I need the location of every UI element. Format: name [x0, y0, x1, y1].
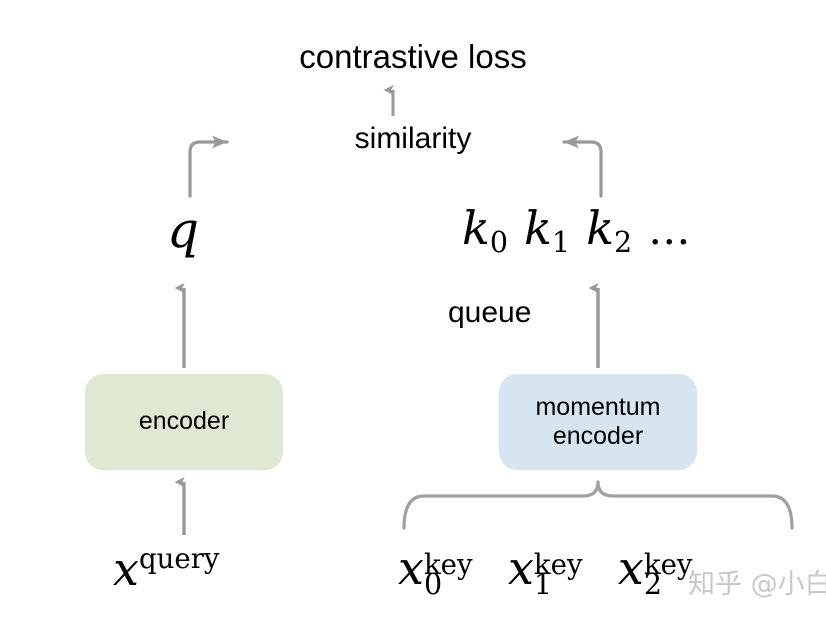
x-query-superscript: query [139, 542, 220, 575]
x-key-symbol-1: x1key [508, 545, 534, 591]
x-key-superscript-0: key [424, 551, 473, 579]
x-query-base: x [113, 542, 139, 596]
key-base-0: k [462, 201, 490, 255]
zhihu-watermark: 知乎 @小白 [688, 562, 826, 601]
x-key-superscript-1: key [534, 551, 583, 579]
moco-diagram: contrastive loss similarity queue q k0 k… [0, 0, 826, 634]
similarity-label: similarity [0, 124, 826, 154]
encoder-box-label: encoder [139, 407, 229, 437]
key-symbol-0: k0 [462, 205, 508, 258]
x-key-base-1: x [508, 541, 534, 595]
x-key-symbol-2: x2key [618, 545, 644, 591]
x-key-base-2: x [618, 541, 644, 595]
key-base-2: k [586, 201, 614, 255]
keys-ellipsis: … [648, 209, 692, 251]
momentum-encoder-box-label: momentum encoder [535, 393, 660, 452]
x-key-superscript-2: key [644, 551, 693, 579]
contrastive-loss-label: contrastive loss [0, 40, 826, 73]
x-key-symbol-0: x0key [398, 545, 424, 591]
momentum-encoder-line2: encoder [553, 422, 643, 450]
diagram-connectors [0, 0, 826, 634]
query-representation-symbol: q [167, 205, 199, 255]
key-base-1: k [524, 201, 552, 255]
encoder-box: encoder [85, 374, 283, 470]
brace-key-inputs [404, 482, 792, 528]
key-symbol-2: k2 [586, 205, 632, 258]
key-subscript-2: 2 [614, 226, 632, 259]
x-key-inputs-group: x0key x1key x2key [398, 545, 644, 591]
key-representations-group: k0 k1 k2 … [462, 205, 692, 258]
key-symbol-1: k1 [524, 205, 570, 258]
x-query-symbol: xquery [113, 545, 220, 592]
momentum-encoder-box: momentum encoder [499, 374, 697, 470]
x-key-base-0: x [398, 541, 424, 595]
momentum-encoder-line1: momentum [535, 393, 660, 421]
queue-label: queue [448, 298, 531, 328]
key-subscript-0: 0 [490, 226, 508, 259]
key-subscript-1: 1 [552, 226, 570, 259]
